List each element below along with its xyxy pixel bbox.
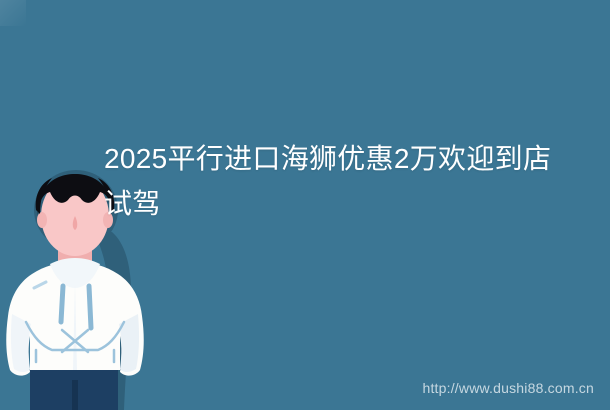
promo-banner: 2025平行进口海狮优惠2万欢迎到店试驾 http://www.dushi88.… — [0, 0, 610, 410]
source-watermark: http://www.dushi88.com.cn — [422, 380, 594, 396]
banner-headline: 2025平行进口海狮优惠2万欢迎到店试驾 — [104, 136, 574, 226]
pants — [30, 366, 118, 410]
